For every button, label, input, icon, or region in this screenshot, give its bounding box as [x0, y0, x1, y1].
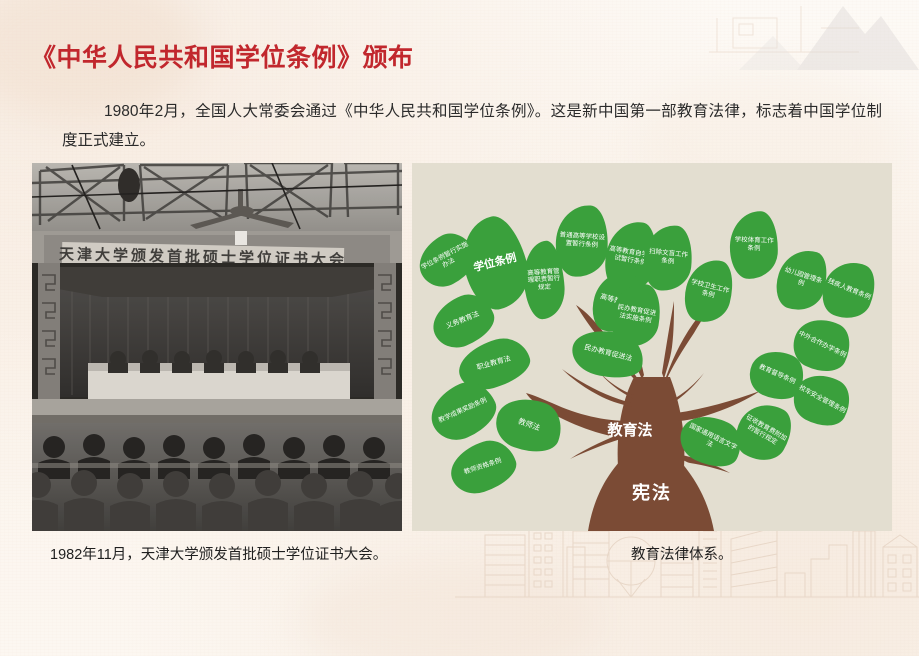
tree-leaf-label: 教师资格条例 [463, 457, 502, 476]
tree-leaf: 普通高等学校设置暂行条例 [554, 203, 611, 278]
tree-leaf-label: 学位条例 [472, 251, 518, 274]
tree-leaf-label: 学校体育工作条例 [732, 237, 777, 254]
diagram-caption: 教育法律体系。 [631, 543, 733, 564]
tree-leaf-label: 校车安全管理条例 [797, 384, 847, 415]
tree-leaf-label: 学校卫生工作条例 [687, 278, 731, 303]
tree-leaf-label: 教师法 [517, 417, 541, 433]
photo-artwork: 天津大学颁发首批硕士学位证书大会 [32, 163, 402, 531]
leaf-layer: 学位条例学位条例暂行实施办法义务教育法普通高等学校设置暂行条例高等教育自学考试暂… [412, 163, 892, 531]
tree-leaf-label: 义务教育法 [445, 311, 481, 332]
education-law-tree-diagram: 教育法 宪法 学位条例学位条例暂行实施办法义务教育法普通高等学校设置暂行条例高等… [412, 163, 892, 531]
photo-caption: 1982年11月，天津大学颁发首批硕士学位证书大会。 [50, 543, 410, 564]
paragraph-line-1: 1980年2月，全国人大常委会通过《中华人民共和国学位条例》。这是新中国第一部教… [104, 103, 756, 120]
body-paragraph: 1980年2月，全国人大常委会通过《中华人民共和国学位条例》。这是新中国第一部教… [62, 97, 882, 155]
tree-leaf-label: 教育督导条例 [758, 364, 797, 387]
tree-leaf-label: 国家通用语言文字法 [682, 421, 741, 460]
tree-leaf-label: 普通高等学校设置暂行条例 [558, 232, 607, 251]
mountain-watermark [739, 0, 919, 70]
tree-leaf-label: 幼儿园管理条例 [779, 266, 826, 294]
page-title: 《中华人民共和国学位条例》颁布 [31, 38, 414, 74]
tree-leaf-label: 中外合作办学条例 [797, 330, 847, 360]
tree-leaf-label: 职业教育法 [476, 355, 512, 373]
tree-leaf: 学校体育工作条例 [729, 210, 779, 280]
historic-photo: 天津大学颁发首批硕士学位证书大会 [32, 163, 402, 531]
tree-leaf-label: 高等教育管理职责暂行规定 [525, 267, 563, 292]
tree-leaf-label: 扫除文盲工作条例 [645, 248, 690, 268]
tree-leaf-label: 教学成果奖励条例 [438, 397, 489, 425]
tree-leaf-label: 民办教育促进法 [583, 344, 633, 364]
tree-leaf: 国家通用语言文字法 [673, 406, 750, 476]
tree-leaf-label: 学位条例暂行实施办法 [420, 241, 475, 280]
slide-page: 《中华人民共和国学位条例》颁布 1980年2月，全国人大常委会通过《中华人民共和… [0, 0, 919, 656]
tree-leaf-label: 民办教育促进法实施条例 [613, 304, 659, 327]
tree-leaf-label: 征收教育费附加的暂行规定 [739, 413, 788, 450]
tree-leaf-label: 残疾人教育条例 [826, 278, 871, 302]
